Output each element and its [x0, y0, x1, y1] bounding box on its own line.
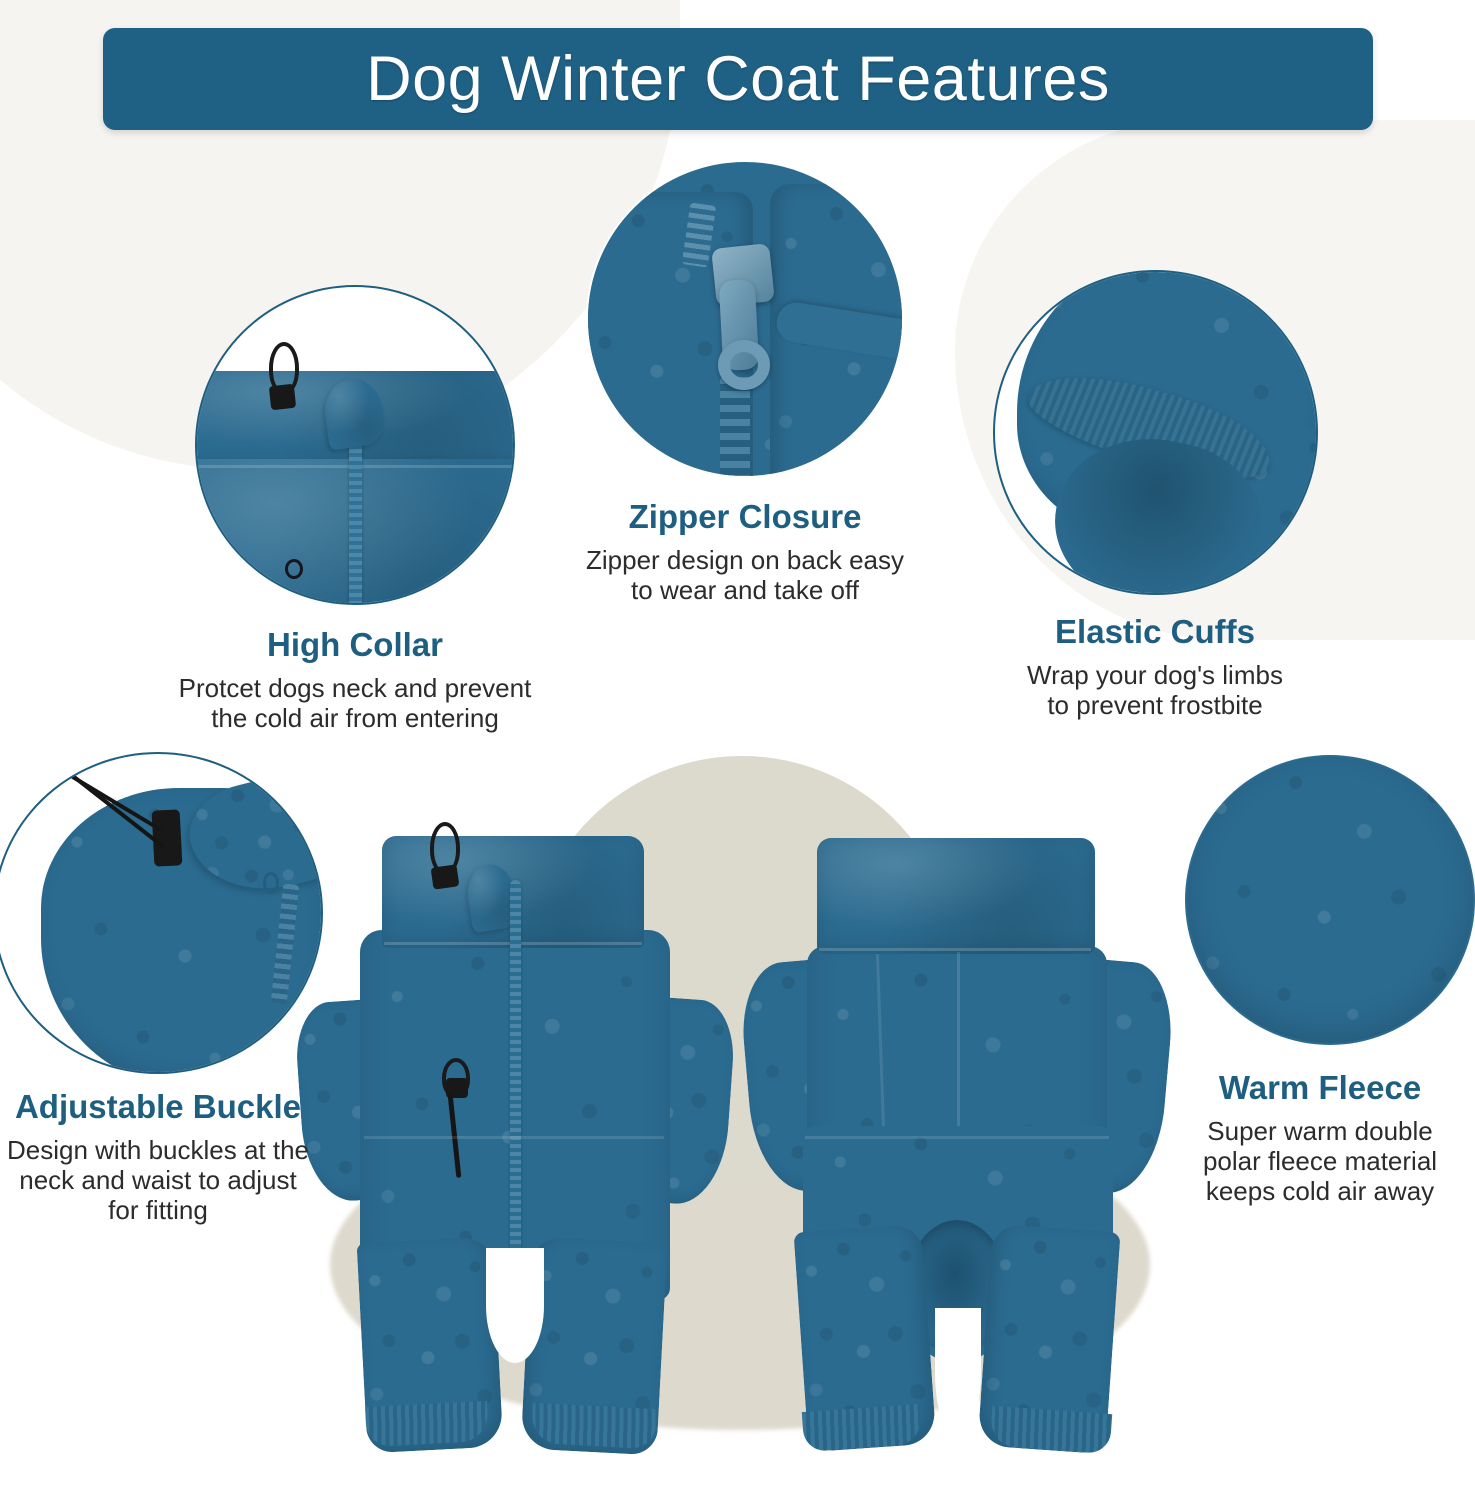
- high-collar-description: Protcet dogs neck and prevent the cold a…: [140, 673, 570, 733]
- feature-adjustable-buckle: Adjustable Buckle Design with buckles at…: [0, 752, 368, 1225]
- elastic-cuffs-title: Elastic Cuffs: [955, 613, 1355, 651]
- high-collar-caption: High Collar Protcet dogs neck and preven…: [140, 626, 570, 733]
- warm-fleece-description: Super warm double polar fleece material …: [1155, 1116, 1475, 1206]
- adjustable-buckle-photo: [0, 752, 323, 1074]
- adjustable-buckle-caption: Adjustable Buckle Design with buckles at…: [0, 1088, 368, 1225]
- elastic-cuffs-caption: Elastic Cuffs Wrap your dog's limbs to p…: [955, 613, 1355, 720]
- page-title: Dog Winter Coat Features: [366, 43, 1110, 115]
- infographic-canvas: Dog Winter Coat Features High Collar Pro…: [0, 0, 1475, 1500]
- high-collar-title: High Collar: [140, 626, 570, 664]
- page-title-banner: Dog Winter Coat Features: [103, 28, 1373, 130]
- dog-coat-back-view: [745, 820, 1165, 1460]
- feature-elastic-cuffs: Elastic Cuffs Wrap your dog's limbs to p…: [955, 270, 1355, 720]
- elastic-cuff-photo: [993, 270, 1318, 595]
- adjustable-buckle-title: Adjustable Buckle: [0, 1088, 368, 1126]
- warm-fleece-caption: Warm Fleece Super warm double polar flee…: [1155, 1069, 1475, 1206]
- warm-fleece-title: Warm Fleece: [1155, 1069, 1475, 1107]
- zipper-pull-ring: [718, 340, 770, 390]
- adjustable-buckle-description: Design with buckles at the neck and wais…: [0, 1135, 368, 1225]
- zipper-closure-photo: [586, 160, 904, 478]
- feature-warm-fleece: Warm Fleece Super warm double polar flee…: [1155, 755, 1475, 1206]
- zipper-closure-title: Zipper Closure: [545, 498, 945, 536]
- elastic-cuffs-description: Wrap your dog's limbs to prevent frostbi…: [955, 660, 1355, 720]
- front-neck-cord-toggle: [431, 864, 460, 889]
- zipper-strip: [349, 425, 362, 605]
- warm-fleece-swatch-photo: [1185, 755, 1475, 1045]
- zipper-closure-description: Zipper design on back easy to wear and t…: [545, 545, 945, 605]
- lower-grommet: [285, 559, 303, 579]
- back-neck-seam: [819, 948, 1091, 951]
- back-hip-seam: [805, 1136, 1109, 1139]
- back-center-seam: [957, 952, 960, 1132]
- zipper-closure-caption: Zipper Closure Zipper design on back eas…: [545, 498, 945, 605]
- zipper-teeth: [720, 377, 750, 478]
- front-right-cuff: [531, 1403, 657, 1449]
- high-collar-photo: [195, 285, 515, 605]
- buckle-loop: [263, 872, 279, 894]
- cord-toggle: [269, 384, 296, 410]
- back-neck-band: [817, 838, 1095, 954]
- front-crotch-notch: [486, 1248, 544, 1363]
- back-crotch-notch: [935, 1308, 981, 1438]
- feature-high-collar: High Collar Protcet dogs neck and preven…: [140, 285, 570, 733]
- front-zipper: [510, 880, 521, 1310]
- front-waist-seam: [364, 1136, 664, 1139]
- feature-zipper-closure: Zipper Closure Zipper design on back eas…: [545, 160, 945, 605]
